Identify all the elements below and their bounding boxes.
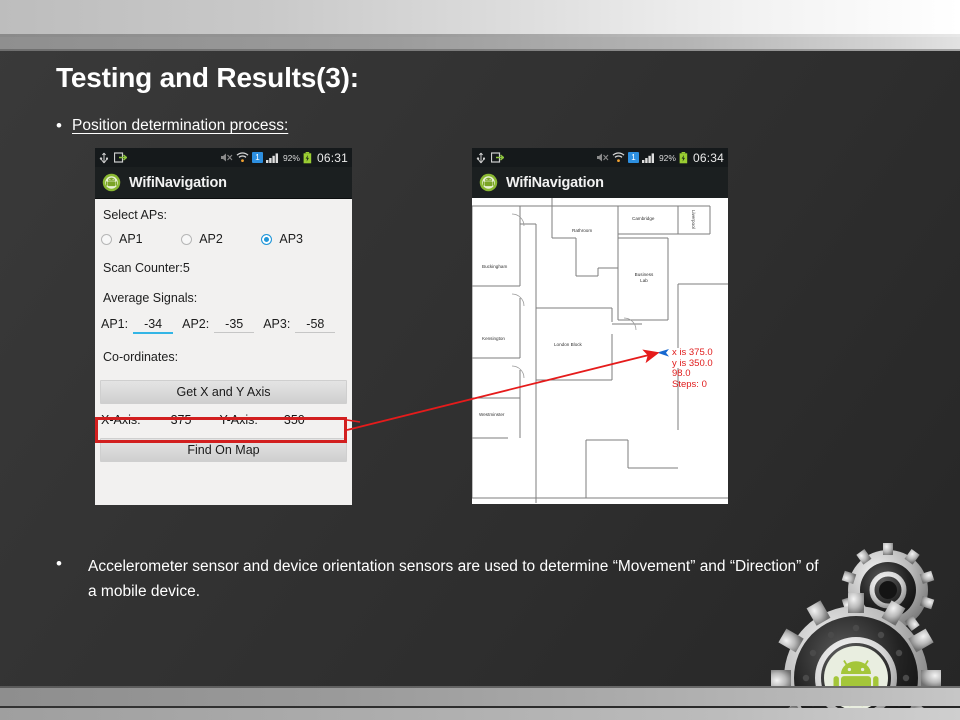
data-transfer-icon	[114, 152, 127, 163]
select-aps-label: Select APs:	[103, 208, 167, 222]
radio-option-ap3[interactable]: AP3	[261, 232, 341, 246]
bullet-text-sensors: Accelerometer sensor and device orientat…	[88, 554, 828, 604]
speaker-mute-icon	[596, 152, 609, 163]
wifi-icon	[612, 152, 625, 163]
page-title: Testing and Results(3):	[56, 62, 359, 94]
status-bar-right: 1 92% 06:34	[472, 148, 728, 167]
cell-signal-icon	[642, 152, 656, 163]
usb-icon	[476, 152, 486, 164]
app-bar-right: WifiNavigation	[472, 167, 728, 199]
room-label-kensington: Kensington	[482, 336, 505, 341]
phone-screenshot-right: 1 92% 06:34	[472, 148, 728, 504]
highlight-box-coordinates	[95, 417, 347, 443]
room-label-business-lab: Business Lab	[631, 272, 657, 284]
android-robot-icon	[479, 173, 498, 192]
signal-field-ap3[interactable]: -58	[295, 317, 335, 333]
get-xy-axis-button[interactable]: Get X and Y Axis	[100, 380, 347, 404]
battery-charging-icon	[303, 152, 312, 164]
bottom-band-gray	[0, 688, 960, 706]
room-label-cambridge: Cambridge	[632, 216, 654, 221]
radio-button-icon[interactable]	[101, 234, 112, 245]
top-band-gray	[0, 37, 960, 49]
bullet-marker-icon: •	[56, 116, 72, 135]
readout-x: x is 375.0	[672, 348, 713, 359]
average-signals-label: Average Signals:	[103, 291, 197, 305]
radio-label: AP1	[119, 232, 143, 246]
radio-button-icon[interactable]	[181, 234, 192, 245]
room-label-bathroom: Rathroom	[572, 228, 592, 233]
bullet-marker-icon: •	[56, 554, 88, 573]
phone-left-content: Select APs: AP1 AP2 AP3 Scan Counter:5 A…	[95, 199, 352, 505]
app-bar-left: WifiNavigation	[95, 167, 352, 199]
status-bar-clock: 06:34	[691, 151, 724, 165]
slide-canvas: Testing and Results(3): • Position deter…	[0, 0, 960, 720]
usb-icon	[99, 152, 109, 164]
readout-steps: Steps: 0	[672, 380, 713, 391]
blue-position-marker-icon	[656, 348, 670, 358]
signal-field-ap1[interactable]: -34	[133, 317, 173, 334]
signal-values-row: AP1: -34 AP2: -35 AP3: -58	[95, 307, 352, 334]
radio-label: AP2	[199, 232, 223, 246]
battery-percent-label: 92%	[283, 153, 300, 163]
android-robot-icon	[102, 173, 121, 192]
phone-screenshot-left: 1 92% 06:31	[95, 148, 352, 505]
ap-radio-group[interactable]: AP1 AP2 AP3	[95, 224, 352, 246]
bullet-item-position: • Position determination process:	[56, 116, 556, 136]
floor-plan-map[interactable]: Buckingham Rathroom Cambridge Liverpool …	[472, 198, 728, 504]
data-transfer-icon	[491, 152, 504, 163]
bottom-band-light	[0, 708, 960, 720]
app-title-left: WifiNavigation	[129, 175, 227, 191]
wifi-icon	[236, 152, 249, 163]
battery-charging-icon	[679, 152, 688, 164]
sim-badge: 1	[252, 152, 263, 163]
battery-percent-label: 92%	[659, 153, 676, 163]
sim-badge: 1	[628, 152, 639, 163]
room-label-westminster: Westminster	[479, 412, 504, 417]
radio-option-ap2[interactable]: AP2	[181, 232, 261, 246]
signal-label-ap1: AP1:	[101, 317, 128, 331]
coordinates-label: Co-ordinates:	[103, 350, 178, 364]
scan-counter-label: Scan Counter:5	[103, 261, 190, 275]
signal-field-ap2[interactable]: -35	[214, 317, 254, 333]
app-title-right: WifiNavigation	[506, 175, 604, 191]
room-label-london-block: London Block	[554, 342, 582, 347]
radio-button-selected-icon[interactable]	[261, 234, 272, 245]
top-band-light	[0, 0, 960, 34]
speaker-mute-icon	[220, 152, 233, 163]
status-bar-clock: 06:31	[315, 151, 348, 165]
bullet-text-position: Position determination process:	[72, 116, 288, 136]
readout-heading: 98.0	[672, 369, 713, 380]
radio-option-ap1[interactable]: AP1	[101, 232, 181, 246]
top-band-edge	[0, 49, 960, 51]
room-label-liverpool: Liverpool	[691, 210, 696, 229]
cell-signal-icon	[266, 152, 280, 163]
signal-label-ap2: AP2:	[182, 317, 209, 331]
signal-label-ap3: AP3:	[263, 317, 290, 331]
status-bar-left: 1 92% 06:31	[95, 148, 352, 167]
radio-label: AP3	[279, 232, 303, 246]
room-label-buckingham: Buckingham	[482, 264, 507, 269]
